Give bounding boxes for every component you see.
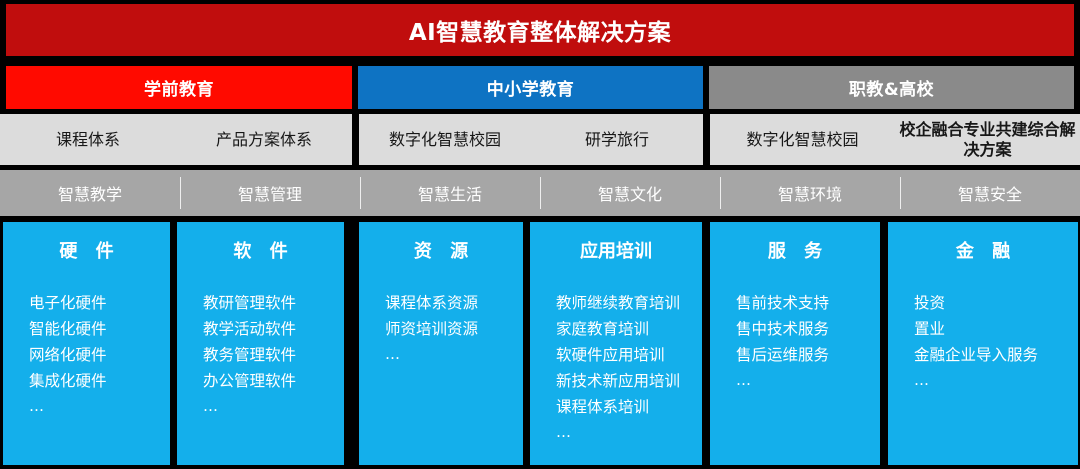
page-title: AI智慧教育整体解决方案 [409, 13, 671, 47]
pillar-item: … [914, 368, 1078, 392]
domain-cell-life: 智慧生活 [360, 170, 540, 216]
pillar-item-list: 电子化硬件智能化硬件网络化硬件集成化硬件… [3, 278, 170, 465]
subsystem-cell: 校企融合专业共建综合解决方案 [895, 114, 1080, 165]
pillar-item: 电子化硬件 [29, 290, 170, 316]
pillar-item: 课程体系资源 [385, 290, 523, 316]
pillar-item: 置业 [914, 316, 1078, 342]
segment-label-preschool: 学前教育 [144, 75, 214, 100]
pillar-item: 新技术新应用培训 [556, 368, 702, 394]
pillar-item-list: 教师继续教育培训家庭教育培训软硬件应用培训新技术新应用培训课程体系培训… [530, 278, 702, 465]
domain-cell-teaching: 智慧教学 [0, 170, 180, 216]
pillar-card-service: 服 务 售前技术支持售中技术服务售后运维服务… [710, 222, 880, 465]
pillar-item: 教研管理软件 [203, 290, 344, 316]
pillar-item: 教务管理软件 [203, 342, 344, 368]
pillar-card-hardware: 硬 件 电子化硬件智能化硬件网络化硬件集成化硬件… [3, 222, 170, 465]
pillar-title: 金 融 [888, 222, 1078, 278]
pillar-item: 售前技术支持 [736, 290, 880, 316]
pillar-item: 软硬件应用培训 [556, 342, 702, 368]
domain-cell-environment: 智慧环境 [720, 170, 900, 216]
pillar-item-list: 投资置业金融企业导入服务… [888, 278, 1078, 465]
pillar-item-list: 售前技术支持售中技术服务售后运维服务… [710, 278, 880, 465]
solution-architecture-diagram: AI智慧教育整体解决方案 学前教育 中小学教育 职教&高校 课程体系 产品方案体… [0, 0, 1080, 469]
pillar-item: 智能化硬件 [29, 316, 170, 342]
subsystem-strip-vocational: 数字化智慧校园 校企融合专业共建综合解决方案 [710, 114, 1080, 165]
domain-cell-management: 智慧管理 [180, 170, 360, 216]
pillar-item: 集成化硬件 [29, 368, 170, 394]
pillar-item: … [736, 368, 880, 392]
subsystem-cell: 课程体系 [0, 114, 176, 165]
domain-cell-culture: 智慧文化 [540, 170, 720, 216]
pillar-item: 售中技术服务 [736, 316, 880, 342]
pillar-item: 金融企业导入服务 [914, 342, 1078, 368]
pillar-item: 家庭教育培训 [556, 316, 702, 342]
pillar-card-training: 应用培训 教师继续教育培训家庭教育培训软硬件应用培训新技术新应用培训课程体系培训… [530, 222, 702, 465]
pillar-item: … [385, 342, 523, 366]
pillar-title: 服 务 [710, 222, 880, 278]
segment-header-k12: 中小学教育 [358, 66, 703, 109]
domain-strip: 智慧教学 智慧管理 智慧生活 智慧文化 智慧环境 智慧安全 [0, 170, 1080, 216]
pillar-title: 硬 件 [3, 222, 170, 278]
subsystem-cell: 研学旅行 [531, 114, 703, 165]
pillar-item: 投资 [914, 290, 1078, 316]
segment-label-vocational: 职教&高校 [849, 75, 934, 100]
pillar-card-software: 软 件 教研管理软件教学活动软件教务管理软件办公管理软件… [177, 222, 344, 465]
pillar-item: 课程体系培训 [556, 394, 702, 420]
pillar-card-resources: 资 源 课程体系资源师资培训资源… [359, 222, 523, 465]
pillar-item-list: 课程体系资源师资培训资源… [359, 278, 523, 465]
subsystem-strip-k12: 数字化智慧校园 研学旅行 [359, 114, 703, 165]
pillar-item: 教师继续教育培训 [556, 290, 702, 316]
subsystem-strip-preschool: 课程体系 产品方案体系 [0, 114, 352, 165]
pillar-title: 应用培训 [530, 222, 702, 278]
pillar-title: 软 件 [177, 222, 344, 278]
subsystem-cell: 数字化智慧校园 [359, 114, 531, 165]
pillar-title: 资 源 [359, 222, 523, 278]
segment-header-vocational: 职教&高校 [709, 66, 1074, 109]
pillar-item: … [203, 394, 344, 418]
pillar-item: … [29, 394, 170, 418]
segment-header-preschool: 学前教育 [6, 66, 352, 109]
segment-label-k12: 中小学教育 [487, 75, 575, 100]
subsystem-cell: 产品方案体系 [176, 114, 352, 165]
pillar-item-list: 教研管理软件教学活动软件教务管理软件办公管理软件… [177, 278, 344, 465]
pillar-item: 师资培训资源 [385, 316, 523, 342]
pillar-item: 办公管理软件 [203, 368, 344, 394]
pillar-item: 售后运维服务 [736, 342, 880, 368]
pillar-item: 网络化硬件 [29, 342, 170, 368]
pillar-item: 教学活动软件 [203, 316, 344, 342]
pillar-item: … [556, 420, 702, 444]
subsystem-cell: 数字化智慧校园 [710, 114, 895, 165]
pillar-card-finance: 金 融 投资置业金融企业导入服务… [888, 222, 1078, 465]
domain-cell-security: 智慧安全 [900, 170, 1080, 216]
main-title-banner: AI智慧教育整体解决方案 [6, 4, 1074, 56]
